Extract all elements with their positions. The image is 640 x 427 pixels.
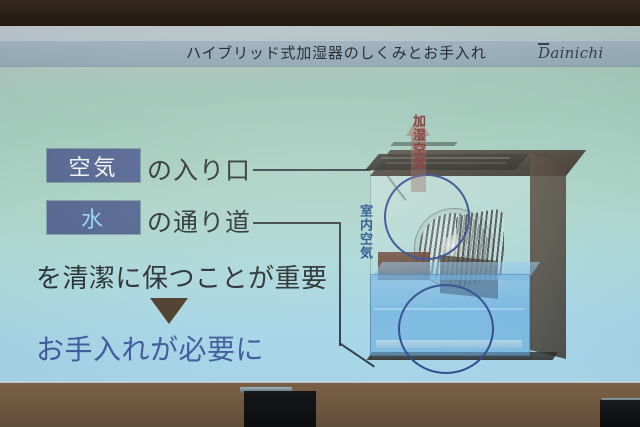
slide-title: ハイブリッド式加湿器のしくみとお手入れ	[186, 41, 487, 65]
projection-screen: ハイブリッド式加湿器のしくみとお手入れ Dainichi 空気 の入り口 水 の…	[0, 26, 640, 383]
ceiling-band	[0, 0, 640, 26]
tag-air: 空気	[47, 149, 140, 182]
result-text: お手入れが必要に	[36, 328, 264, 368]
center-dark-equipment	[244, 391, 316, 427]
leader-line-water-vertical	[339, 222, 341, 346]
tag-water: 水	[47, 201, 140, 234]
label-room-air: 室内空気	[355, 204, 374, 260]
conclusion-text: を清潔に保つことが重要	[36, 258, 328, 295]
humidifier-cutaway-diagram: 加湿空気 室内空気	[352, 112, 640, 383]
cabinet-side-panel	[530, 154, 566, 359]
title-divider	[0, 66, 640, 67]
bullet-water-text: の通り道	[147, 203, 251, 239]
down-triangle-icon	[150, 298, 188, 324]
water-path-highlight-circle	[398, 284, 494, 374]
louver-slat-2	[385, 162, 507, 164]
bullet-air-text: の入り口	[147, 151, 251, 187]
label-humidified-air: 加湿空気	[408, 114, 427, 170]
brand-logo: Dainichi	[538, 42, 603, 64]
leader-line-water-horizontal	[253, 222, 341, 224]
louver-slat-1	[381, 157, 511, 159]
wall-below-screen	[0, 383, 640, 427]
right-dark-equipment	[600, 400, 640, 427]
projector-room-photo: ハイブリッド式加湿器のしくみとお手入れ Dainichi 空気 の入り口 水 の…	[0, 0, 640, 427]
